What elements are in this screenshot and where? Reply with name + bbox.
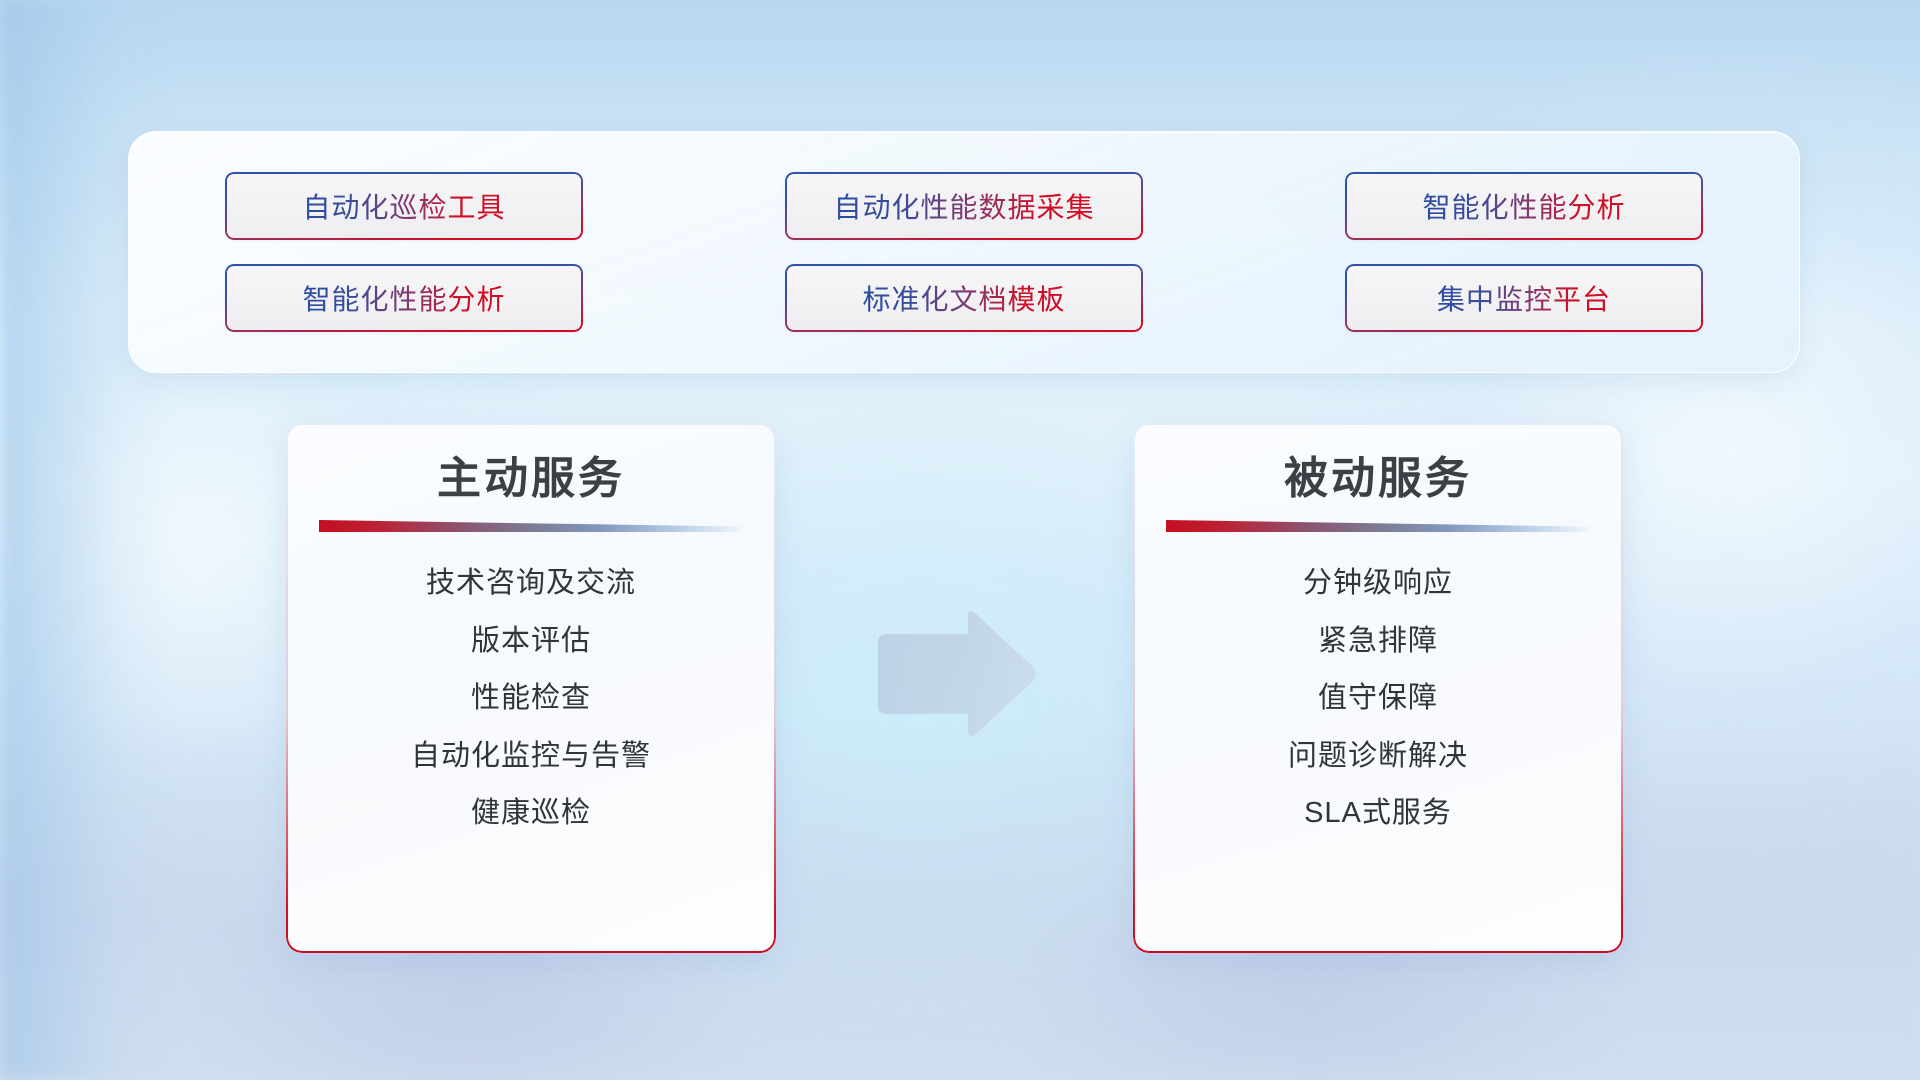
capability-pill-label: 自动化性能数据采集: [833, 186, 1094, 226]
capability-pill-intelligent-performance-analysis-bottom[interactable]: 智能化性能分析: [225, 264, 583, 332]
list-item: 健康巡检: [471, 792, 591, 836]
capability-pill-standardized-document-template[interactable]: 标准化文档模板: [785, 264, 1143, 332]
list-item: 分钟级响应: [1303, 562, 1453, 606]
capability-pill-row-2: 智能化性能分析 标准化文档模板 集中监控平台: [225, 264, 1703, 332]
card-title: 被动服务: [1284, 451, 1472, 506]
list-item: 自动化监控与告警: [411, 735, 651, 779]
card-divider: [1166, 520, 1590, 532]
capability-pill-label: 集中监控平台: [1437, 278, 1611, 318]
capability-pill-automated-inspection-tool[interactable]: 自动化巡检工具: [225, 172, 583, 240]
capability-pill-panel: 自动化巡检工具 自动化性能数据采集 智能化性能分析 智能化性能分析 标准化文档模…: [128, 131, 1800, 373]
capability-pill-label: 标准化文档模板: [862, 278, 1065, 318]
card-divider: [319, 520, 743, 532]
list-item: 紧急排障: [1318, 620, 1438, 664]
capability-pill-intelligent-performance-analysis-top[interactable]: 智能化性能分析: [1345, 172, 1703, 240]
list-item: 版本评估: [471, 620, 591, 664]
card-title: 主动服务: [437, 451, 625, 506]
capability-pill-label: 智能化性能分析: [1422, 186, 1625, 226]
service-card-proactive: 主动服务 技术咨询及交流 版本评估 性能检查 自动化监控与告警 健康巡检: [286, 423, 776, 953]
list-item: SLA式服务: [1304, 792, 1452, 836]
service-card-reactive: 被动服务 分钟级响应 紧急排障 值守保障 问题诊断解决 SLA式服务: [1133, 423, 1623, 953]
capability-pill-automated-performance-data-collection[interactable]: 自动化性能数据采集: [785, 172, 1143, 240]
capability-pill-label: 自动化巡检工具: [302, 186, 505, 226]
list-item: 性能检查: [471, 677, 591, 721]
card-service-list: 分钟级响应 紧急排障 值守保障 问题诊断解决 SLA式服务: [1133, 562, 1623, 836]
list-item: 技术咨询及交流: [426, 562, 636, 606]
right-arrow-icon: [872, 610, 1040, 738]
capability-pill-centralized-monitoring-platform[interactable]: 集中监控平台: [1345, 264, 1703, 332]
card-service-list: 技术咨询及交流 版本评估 性能检查 自动化监控与告警 健康巡检: [286, 562, 776, 836]
list-item: 值守保障: [1318, 677, 1438, 721]
list-item: 问题诊断解决: [1288, 735, 1468, 779]
capability-pill-label: 智能化性能分析: [302, 278, 505, 318]
capability-pill-row-1: 自动化巡检工具 自动化性能数据采集 智能化性能分析: [225, 172, 1703, 240]
